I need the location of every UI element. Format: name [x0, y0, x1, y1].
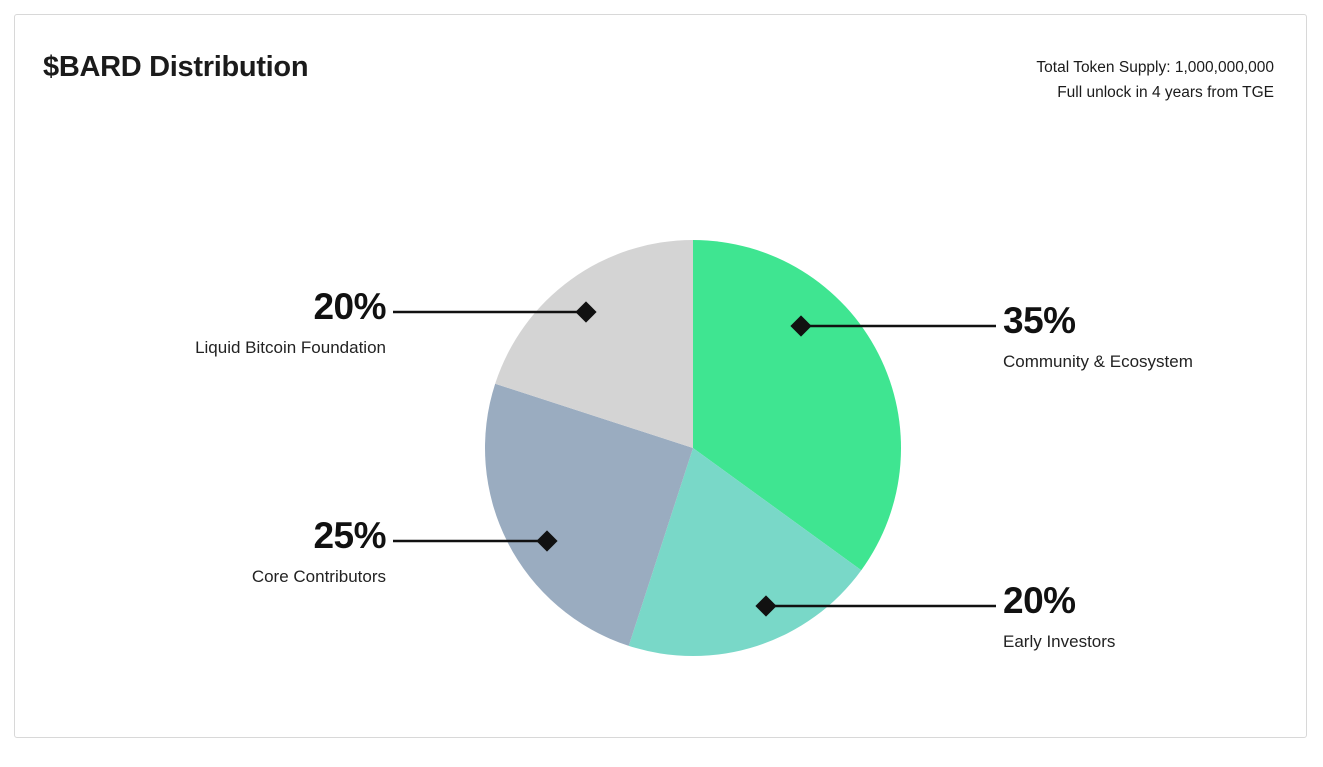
callout-percent-liquid-bitcoin-foundation: 20% — [195, 287, 386, 327]
pie-chart: 35% Community & Ecosystem 20% Early Inve… — [15, 15, 1306, 737]
callout-percent-core-contributors: 25% — [252, 516, 386, 556]
callout-community-ecosystem[interactable]: 35% Community & Ecosystem — [1003, 301, 1193, 374]
callout-liquid-bitcoin-foundation[interactable]: 20% Liquid Bitcoin Foundation — [195, 287, 386, 360]
callout-percent-community-ecosystem: 35% — [1003, 301, 1193, 341]
callout-label-liquid-bitcoin-foundation: Liquid Bitcoin Foundation — [195, 336, 386, 360]
callout-label-early-investors: Early Investors — [1003, 630, 1115, 654]
callout-label-community-ecosystem: Community & Ecosystem — [1003, 350, 1193, 374]
callout-percent-early-investors: 20% — [1003, 581, 1115, 621]
callout-label-core-contributors: Core Contributors — [252, 565, 386, 589]
chart-card: $BARD Distribution Total Token Supply: 1… — [14, 14, 1307, 738]
callout-core-contributors[interactable]: 25% Core Contributors — [252, 516, 386, 589]
callout-early-investors[interactable]: 20% Early Investors — [1003, 581, 1115, 654]
